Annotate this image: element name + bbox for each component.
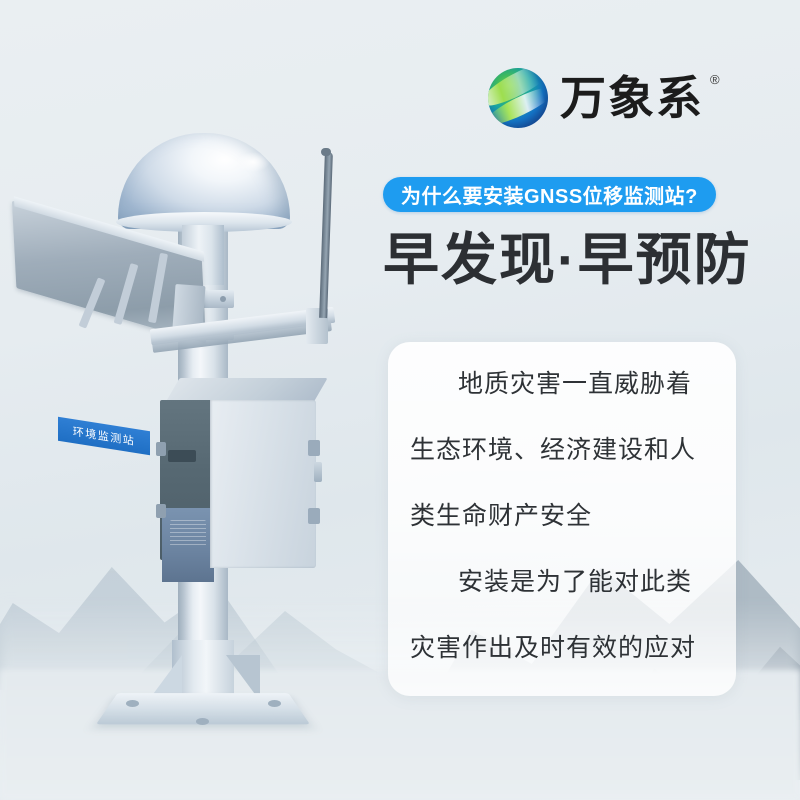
control-cabinet	[160, 378, 320, 560]
trademark-symbol: ®	[710, 72, 720, 87]
brand-lockup: 万象系 ®	[488, 68, 720, 128]
cabinet-front-face	[210, 400, 316, 568]
cabinet-louvre-grill	[170, 520, 206, 546]
question-pill-badge: 为什么要安装GNSS位移监测站?	[383, 177, 716, 212]
base-bolt-hole-right	[268, 700, 281, 707]
whip-antenna-rod	[319, 152, 333, 318]
cabinet-hinge-lower	[156, 504, 166, 518]
gnss-monitoring-station-image: 环境监测站	[0, 0, 400, 800]
cabinet-nameplate: 环境监测站	[58, 417, 150, 456]
brand-name: 万象系	[560, 75, 704, 121]
poster-canvas: 环境监测站 万象系 ® 为什么要安装GNSS位移监测站? 早发现·早预防 地质灾…	[0, 0, 800, 800]
cabinet-latch	[314, 462, 322, 482]
dome-highlight	[236, 152, 270, 172]
globe-swirl-logo-icon	[488, 68, 548, 128]
copy-line: 生态环境、经济建设和人	[410, 438, 714, 463]
cabinet-mount-tab-upper	[308, 440, 320, 456]
copy-line: 安装是为了能对此类	[410, 570, 714, 595]
body-copy-card: 地质灾害一直威胁着 生态环境、经济建设和人 类生命财产安全 安装是为了能对此类 …	[388, 342, 736, 696]
whip-antenna-cap	[321, 148, 331, 156]
cabinet-mount-tab-lower	[308, 508, 320, 524]
cabinet-hinge-upper	[156, 442, 166, 456]
copy-line: 灾害作出及时有效的应对	[410, 636, 714, 661]
copy-line: 地质灾害一直威胁着	[410, 372, 714, 397]
base-bolt-hole-left	[126, 700, 139, 707]
solar-panel-assembly	[14, 215, 224, 340]
copy-line: 类生命财产安全	[410, 504, 714, 529]
page-title: 早发现·早预防	[383, 228, 752, 292]
cabinet-vent-slot	[168, 450, 196, 462]
base-bolt-hole-front	[196, 718, 209, 725]
cabinet-nameplate-text: 环境监测站	[73, 423, 136, 449]
